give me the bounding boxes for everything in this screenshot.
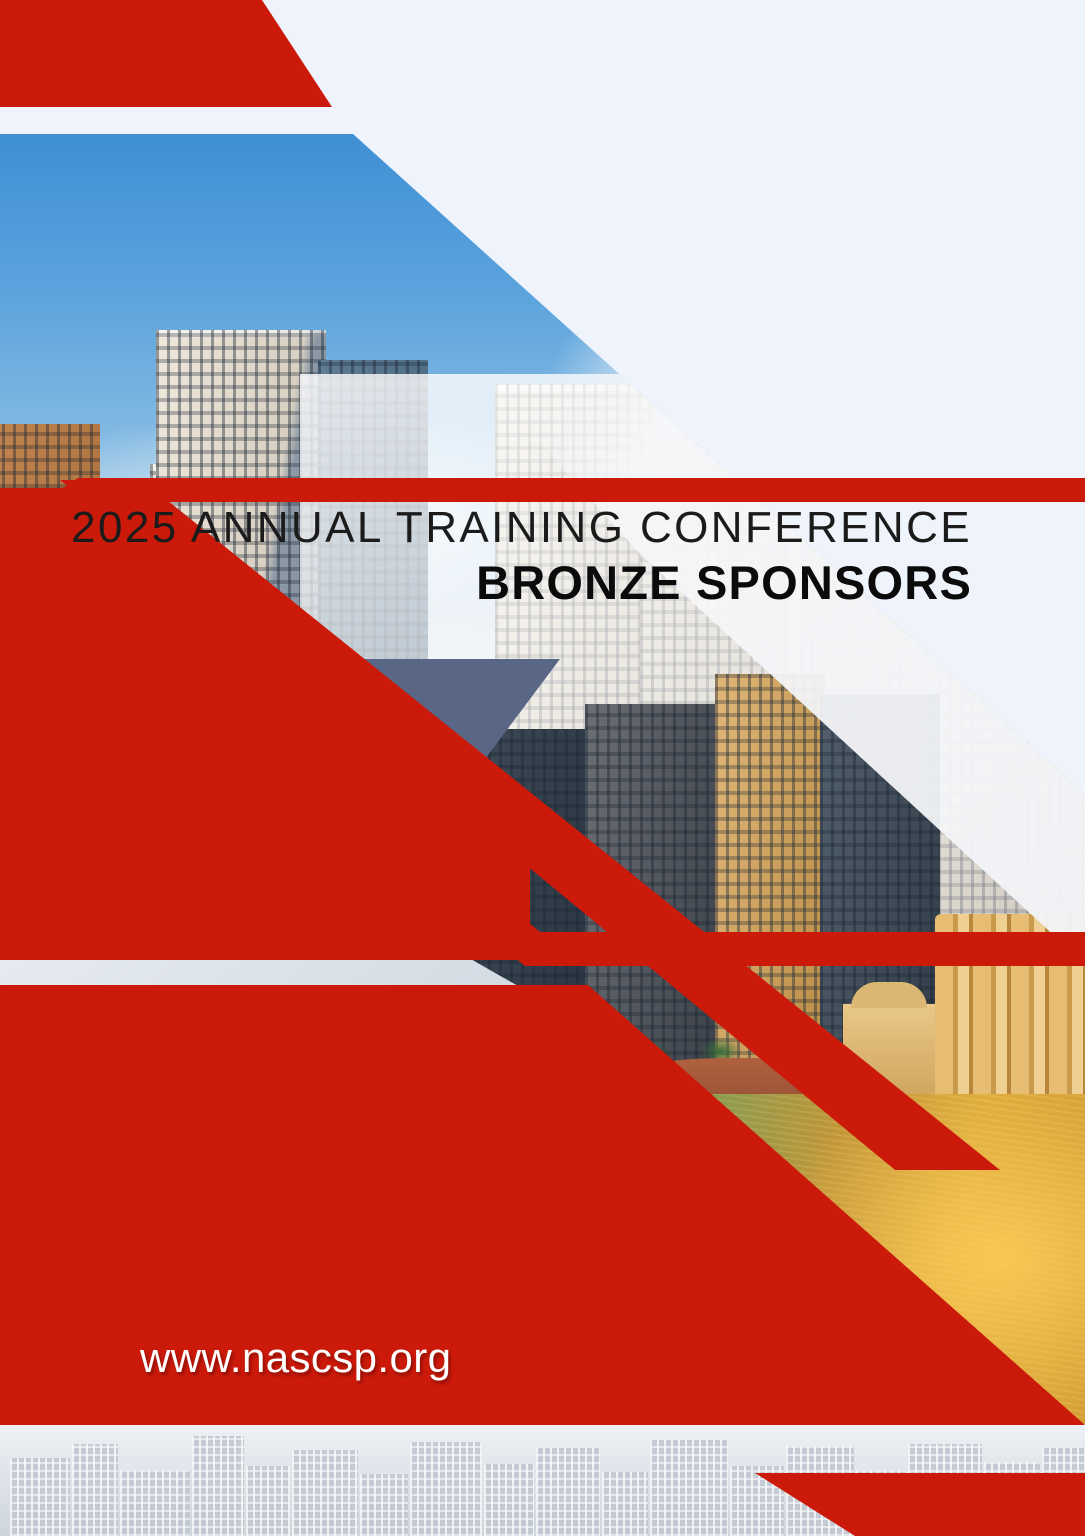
conference-eyebrow: 2025 ANNUAL TRAINING CONFERENCE — [0, 505, 972, 551]
title-block: 2025 ANNUAL TRAINING CONFERENCE BRONZE S… — [0, 505, 1085, 610]
red-title-rule — [0, 478, 1085, 502]
website-url[interactable]: www.nascsp.org — [0, 1334, 1085, 1382]
page-title: BRONZE SPONSORS — [0, 557, 972, 610]
flyer-page: 2025 ANNUAL TRAINING CONFERENCE BRONZE S… — [0, 0, 1085, 1536]
red-corner-banner-top — [0, 0, 332, 107]
